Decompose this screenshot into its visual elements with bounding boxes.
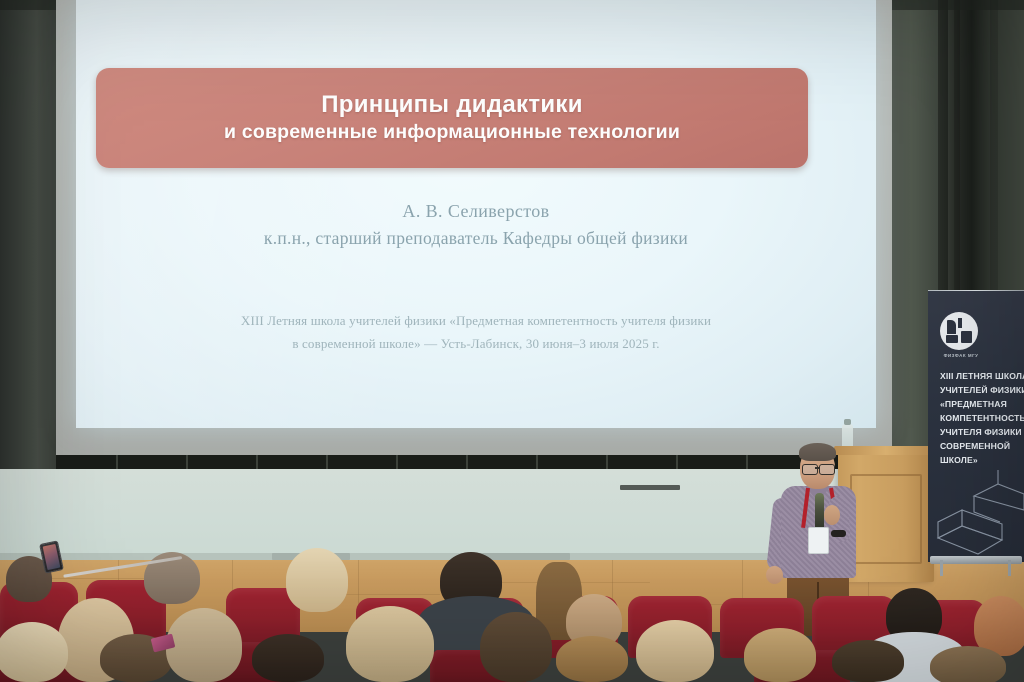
banner-leg-left <box>940 560 943 576</box>
speaker-trousers <box>787 572 849 636</box>
speaker-hair <box>799 443 836 461</box>
audience-head <box>556 636 628 682</box>
banner-logo-caption: ФИЗФАК МГУ <box>938 353 984 358</box>
podium-top <box>834 446 938 455</box>
slide-title-line-2: и современные информационные технологии <box>224 122 680 143</box>
slide-author-role: к.п.н., старший преподаватель Кафедры об… <box>76 225 876 251</box>
audience-head <box>930 646 1006 682</box>
seat <box>196 642 292 682</box>
wristwatch-icon <box>831 530 846 537</box>
audience-head <box>744 628 816 682</box>
glasses-right-lens-icon <box>819 464 835 475</box>
slide-event-line-1: XIII Летняя школа учителей физики «Предм… <box>76 310 876 333</box>
slide-event-line-2: в современной школе» — Усть-Лабинск, 30 … <box>76 333 876 356</box>
banner-top-rail <box>928 290 1024 291</box>
microphone-icon <box>815 493 824 531</box>
seat <box>754 650 850 682</box>
speaker-name-badge <box>808 527 829 554</box>
seat <box>0 648 86 682</box>
audience-head <box>252 634 324 682</box>
banner-leg-right <box>1008 560 1011 576</box>
podium-panel <box>850 474 922 564</box>
audience-shoulders <box>862 632 966 682</box>
glasses-bridge-icon <box>815 467 820 469</box>
slide-author-block: А. В. Селиверстов к.п.н., старший препод… <box>76 198 876 251</box>
slide-title-banner: Принципы дидактики и современные информа… <box>96 68 808 168</box>
slide-title-line-1: Принципы дидактики <box>321 92 583 118</box>
wall-strip <box>620 485 680 490</box>
speaker-right-hand <box>824 505 840 525</box>
bottle-cap-icon <box>844 419 851 425</box>
lecture-hall-photo: Принципы дидактики и современные информа… <box>0 0 1024 682</box>
smartphone-audience <box>151 634 176 653</box>
banner-geometric-art <box>928 470 1024 562</box>
audience-head <box>832 640 904 682</box>
stage-curtain-left <box>0 0 62 546</box>
seat <box>430 648 526 682</box>
slide-event-block: XIII Летняя школа учителей физики «Предм… <box>76 310 876 356</box>
slide-author-name: А. В. Селиверстов <box>76 198 876 225</box>
banner-headline: XIII ЛЕТНЯЯ ШКОЛА УЧИТЕЛЕЙ ФИЗИКИ «ПРЕДМ… <box>940 370 1024 467</box>
glasses-left-lens-icon <box>802 464 818 475</box>
rollup-banner: ФИЗФАК МГУ XIII ЛЕТНЯЯ ШКОЛА УЧИТЕЛЕЙ ФИ… <box>928 290 1024 562</box>
presentation-slide: Принципы дидактики и современные информа… <box>76 0 876 428</box>
screen-baseboard <box>56 455 892 469</box>
speaker-left-hand <box>766 566 783 584</box>
university-logo-icon <box>940 312 978 350</box>
